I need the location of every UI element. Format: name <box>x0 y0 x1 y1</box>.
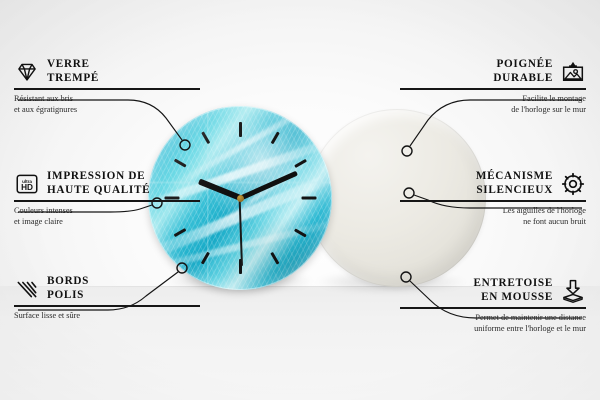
feature-divider <box>14 305 200 306</box>
title-line-1: ENTRETOISE <box>473 277 553 291</box>
desc-line-1: Permet de maintenir une distance <box>400 312 586 323</box>
desc-line-2: et image claire <box>14 216 200 227</box>
title-line-2: HAUTE QUALITÉ <box>47 184 150 198</box>
feature-divider <box>400 307 586 308</box>
feature-title: POIGNÉE DURABLE <box>493 58 553 85</box>
feature-description: Permet de maintenir une distance uniform… <box>400 312 586 334</box>
title-line-1: MÉCANISME <box>476 170 553 184</box>
feature-poignee-durable: POIGNÉE DURABLE Facilite le montage de l… <box>400 58 586 115</box>
feature-title: IMPRESSION DE HAUTE QUALITÉ <box>47 170 150 197</box>
feature-description: Les aiguilles de l'horloge ne font aucun… <box>400 205 586 227</box>
title-line-1: POIGNÉE <box>493 58 553 72</box>
title-line-1: BORDS <box>47 275 89 289</box>
feature-divider <box>14 88 200 89</box>
title-line-2: EN MOUSSE <box>473 291 553 305</box>
feature-description: Facilite le montage de l'horloge sur le … <box>400 93 586 115</box>
gear-icon <box>560 171 586 197</box>
desc-line-1: Surface lisse et sûre <box>14 310 200 321</box>
title-line-2: SILENCIEUX <box>476 184 553 198</box>
picture-hanger-icon <box>560 59 586 85</box>
desc-line-1: Les aiguilles de l'horloge <box>400 205 586 216</box>
feature-mecanisme-silencieux: MÉCANISME SILENCIEUX <box>400 170 586 227</box>
feature-header: POIGNÉE DURABLE <box>400 58 586 85</box>
desc-line-1: Résistant aux bris <box>14 93 200 104</box>
title-line-1: IMPRESSION DE <box>47 170 150 184</box>
svg-text:HD: HD <box>21 183 33 192</box>
feature-title: MÉCANISME SILENCIEUX <box>476 170 553 197</box>
infographic-stage: VERRE TREMPÉ Résistant aux bris et aux é… <box>0 0 600 400</box>
feature-header: MÉCANISME SILENCIEUX <box>400 170 586 197</box>
feature-entretoise-en-mousse: ENTRETOISE EN MOUSSE Permet de maintenir… <box>400 277 586 334</box>
title-line-1: VERRE <box>47 58 99 72</box>
feature-header: VERRE TREMPÉ <box>14 58 200 85</box>
feature-header: ultra HD IMPRESSION DE HAUTE QUALITÉ <box>14 170 200 197</box>
feature-description: Couleurs intenses et image claire <box>14 205 200 227</box>
desc-line-1: Couleurs intenses <box>14 205 200 216</box>
desc-line-2: ne font aucun bruit <box>400 216 586 227</box>
feature-title: VERRE TREMPÉ <box>47 58 99 85</box>
title-line-2: DURABLE <box>493 72 553 86</box>
foam-spacer-icon <box>560 278 586 304</box>
feature-verre-trempe: VERRE TREMPÉ Résistant aux bris et aux é… <box>14 58 200 115</box>
feature-impression-haute-qualite: ultra HD IMPRESSION DE HAUTE QUALITÉ Cou… <box>14 170 200 227</box>
feature-divider <box>14 200 200 201</box>
feature-divider <box>400 88 586 89</box>
feature-bords-polis: BORDS POLIS Surface lisse et sûre <box>14 275 200 321</box>
ultra-hd-badge-icon: ultra HD <box>14 171 40 197</box>
feature-description: Résistant aux bris et aux égratignures <box>14 93 200 115</box>
feature-divider <box>400 200 586 201</box>
feature-header: BORDS POLIS <box>14 275 200 302</box>
title-line-2: POLIS <box>47 289 89 303</box>
feature-description: Surface lisse et sûre <box>14 310 200 321</box>
diamond-icon <box>14 59 40 85</box>
feature-title: ENTRETOISE EN MOUSSE <box>473 277 553 304</box>
desc-line-2: uniforme entre l'horloge et le mur <box>400 323 586 334</box>
desc-line-2: et aux égratignures <box>14 104 200 115</box>
polished-edge-icon <box>14 276 40 302</box>
feature-header: ENTRETOISE EN MOUSSE <box>400 277 586 304</box>
feature-title: BORDS POLIS <box>47 275 89 302</box>
desc-line-2: de l'horloge sur le mur <box>400 104 586 115</box>
title-line-2: TREMPÉ <box>47 72 99 86</box>
desc-line-1: Facilite le montage <box>400 93 586 104</box>
